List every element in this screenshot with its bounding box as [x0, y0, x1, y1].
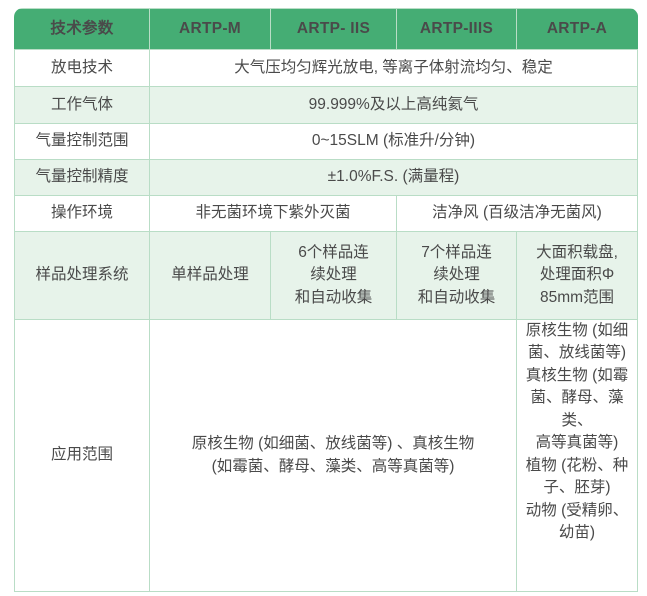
table-row: 工作气体 99.999%及以上高纯氦气 — [15, 87, 638, 124]
row-value-discharge-technology: 大气压均匀辉光放电, 等离子体射流均匀、稳定 — [150, 50, 638, 87]
table-row: 样品处理系统 单样品处理 6个样品连 续处理 和自动收集 7个样品连 续处理 和… — [15, 232, 638, 320]
table-row: 应用范围 原核生物 (如细菌、放线菌等) 、真核生物 (如霉菌、酵母、藻类、高等… — [15, 320, 638, 592]
row-value-sample-processing-artp-iis: 6个样品连 续处理 和自动收集 — [271, 232, 397, 320]
spec-table-container: 技术参数 ARTP-M ARTP- IIS ARTP-IIIS ARTP-A 放… — [14, 8, 632, 583]
table-row: 操作环境 非无菌环境下紫外灭菌 洁净风 (百级洁净无菌风) — [15, 196, 638, 232]
row-label-gas-flow-accuracy: 气量控制精度 — [15, 160, 150, 196]
row-label-gas-flow-range: 气量控制范围 — [15, 124, 150, 160]
column-header-artp-m: ARTP-M — [150, 9, 271, 50]
row-value-application-scope-general: 原核生物 (如细菌、放线菌等) 、真核生物 (如霉菌、酵母、藻类、高等真菌等) — [150, 320, 517, 592]
column-header-artp-iis: ARTP- IIS — [271, 9, 397, 50]
row-label-sample-processing-system: 样品处理系统 — [15, 232, 150, 320]
row-value-working-gas: 99.999%及以上高纯氦气 — [150, 87, 638, 124]
row-value-sample-processing-artp-iiis: 7个样品连 续处理 和自动收集 — [397, 232, 517, 320]
row-value-operating-environment-left: 非无菌环境下紫外灭菌 — [150, 196, 397, 232]
header-row: 技术参数 ARTP-M ARTP- IIS ARTP-IIIS ARTP-A — [15, 9, 638, 50]
row-value-sample-processing-artp-a: 大面积载盘, 处理面积Φ 85mm范围 — [517, 232, 638, 320]
table-row: 气量控制精度 ±1.0%F.S. (满量程) — [15, 160, 638, 196]
row-label-application-scope: 应用范围 — [15, 320, 150, 592]
table-body: 放电技术 大气压均匀辉光放电, 等离子体射流均匀、稳定 工作气体 99.999%… — [15, 50, 638, 592]
row-value-sample-processing-artp-m: 单样品处理 — [150, 232, 271, 320]
column-header-parameter: 技术参数 — [15, 9, 150, 50]
row-value-application-scope-artp-a: 原核生物 (如细 菌、放线菌等) 真核生物 (如霉 菌、酵母、藻类、 高等真菌等… — [517, 320, 638, 592]
column-header-artp-a: ARTP-A — [517, 9, 638, 50]
table-row: 气量控制范围 0~15SLM (标准升/分钟) — [15, 124, 638, 160]
table-header: 技术参数 ARTP-M ARTP- IIS ARTP-IIIS ARTP-A — [15, 9, 638, 50]
row-label-discharge-technology: 放电技术 — [15, 50, 150, 87]
technical-specification-table: 技术参数 ARTP-M ARTP- IIS ARTP-IIIS ARTP-A 放… — [14, 8, 638, 592]
row-label-working-gas: 工作气体 — [15, 87, 150, 124]
row-value-gas-flow-range: 0~15SLM (标准升/分钟) — [150, 124, 638, 160]
table-row: 放电技术 大气压均匀辉光放电, 等离子体射流均匀、稳定 — [15, 50, 638, 87]
column-header-artp-iiis: ARTP-IIIS — [397, 9, 517, 50]
row-label-operating-environment: 操作环境 — [15, 196, 150, 232]
row-value-operating-environment-right: 洁净风 (百级洁净无菌风) — [397, 196, 638, 232]
row-value-gas-flow-accuracy: ±1.0%F.S. (满量程) — [150, 160, 638, 196]
